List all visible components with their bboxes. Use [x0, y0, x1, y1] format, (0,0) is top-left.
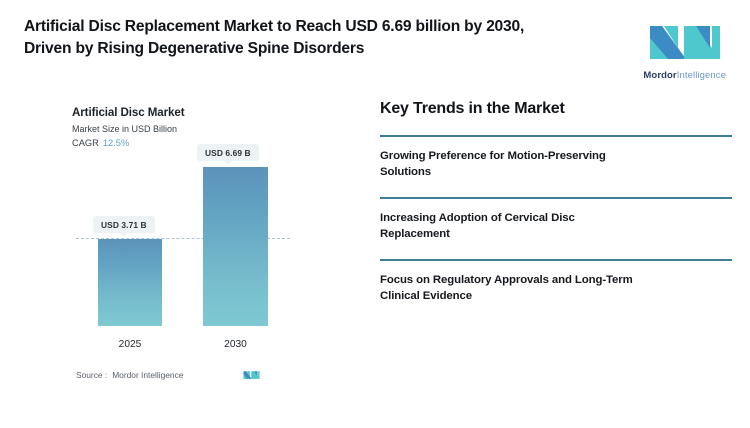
brand-logo: MordorIntelligence: [643, 18, 726, 81]
chart-source: Source : Mordor Intelligence: [76, 369, 326, 380]
chart-plot-area: USD 3.71 B USD 6.69 B 2025 2030 Source :…: [0, 154, 360, 394]
chart-subtitle: Market Size in USD Billion: [72, 124, 177, 134]
page-header: Artificial Disc Replacement Market to Re…: [0, 0, 750, 86]
brand-wordmark: MordorIntelligence: [643, 70, 726, 81]
trend-item-3: Focus on Regulatory Approvals and Long-T…: [380, 259, 732, 321]
trend-item-1-text: Growing Preference for Motion-Preserving…: [380, 148, 732, 180]
bar-value-label-2030: USD 6.69 B: [197, 144, 259, 161]
key-trends-heading: Key Trends in the Market: [380, 100, 732, 118]
page-title: Artificial Disc Replacement Market to Re…: [24, 16, 524, 60]
brand-name-light: Intelligence: [677, 70, 726, 81]
bar-2025: [98, 239, 162, 326]
mordor-intelligence-mark-icon: [243, 369, 260, 380]
trend-item-1: Growing Preference for Motion-Preserving…: [380, 135, 732, 197]
cagr-value: 12.5%: [103, 138, 129, 148]
trend-item-3-text: Focus on Regulatory Approvals and Long-T…: [380, 272, 732, 304]
x-axis-label-2030: 2030: [203, 339, 268, 350]
brand-name-bold: Mordor: [643, 70, 676, 81]
market-size-chart: Artificial Disc Market Market Size in US…: [0, 92, 360, 392]
source-name: Mordor Intelligence: [112, 370, 183, 380]
x-axis-label-2025: 2025: [98, 339, 162, 350]
cagr-label: CAGR: [72, 138, 99, 148]
source-label: Source :: [76, 370, 107, 380]
bar-2030: [203, 167, 268, 326]
trend-item-2-text: Increasing Adoption of Cervical Disc Rep…: [380, 210, 732, 242]
trend-item-2: Increasing Adoption of Cervical Disc Rep…: [380, 197, 732, 259]
chart-title: Artificial Disc Market: [72, 106, 185, 119]
chart-cagr: CAGR12.5%: [72, 138, 129, 148]
bar-value-label-2025: USD 3.71 B: [93, 216, 155, 233]
key-trends-panel: Key Trends in the Market Growing Prefere…: [380, 100, 732, 321]
mordor-intelligence-logo-icon: [648, 18, 722, 67]
